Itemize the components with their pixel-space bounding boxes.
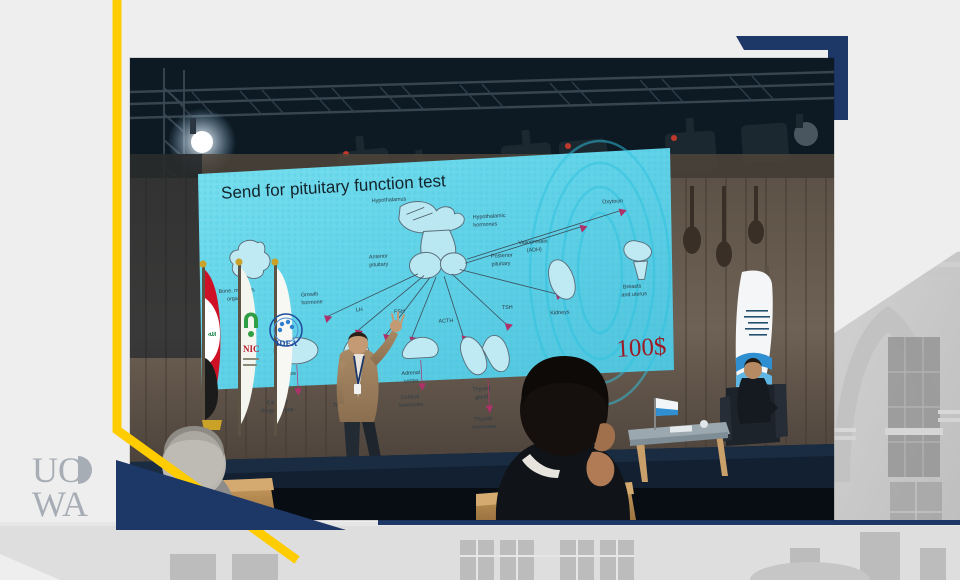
label-growth-hormone: Growth — [301, 291, 319, 298]
campus-building-watermark-bottom — [0, 522, 960, 580]
label-thyroid-hormones: Thyroid — [474, 416, 492, 423]
label-cortical-hormones: Cortical — [401, 394, 420, 401]
idea-banner-label: IDEA — [276, 338, 298, 348]
label-anterior-pituitary: Anterior — [369, 254, 388, 261]
logo-line-2-text: WA — [32, 484, 88, 524]
navy-divider-rule — [378, 520, 960, 525]
nic-banner-label: NIC — [243, 344, 260, 354]
label-thyroid-gland: Thyroid — [472, 386, 490, 393]
label-lh: LH — [356, 307, 363, 313]
poster-canvas: Send for pituitary function test — [0, 0, 960, 580]
label-growth-hormone-2: hormone — [301, 299, 323, 306]
label-tsh: TSH — [502, 305, 513, 312]
conference-photo: Send for pituitary function test — [130, 58, 834, 520]
label-anterior-pituitary-2: pituitary — [369, 262, 388, 269]
label-thyroid-gland-2: gland — [475, 394, 489, 401]
label-breasts-uterus: Breasts — [623, 283, 642, 290]
label-kidneys: Kidneys — [550, 309, 570, 316]
label-posterior-pituitary: Posterior — [491, 253, 513, 260]
label-adrenal-cortex: Adrenal — [401, 370, 420, 377]
label-adrenal-cortex-2: cortex — [404, 378, 419, 385]
label-oxytocin: Oxytocin — [602, 198, 623, 205]
slide-price-text: 100$ — [616, 333, 667, 363]
label-acth: ACTH — [438, 318, 453, 325]
label-posterior-pituitary-2: pituitary — [491, 261, 510, 268]
label-vasopressin-2: (ADH) — [527, 247, 542, 254]
uowa-logo: UO WA — [32, 452, 118, 524]
decor-navy-triangle-bottom-left — [116, 460, 346, 530]
